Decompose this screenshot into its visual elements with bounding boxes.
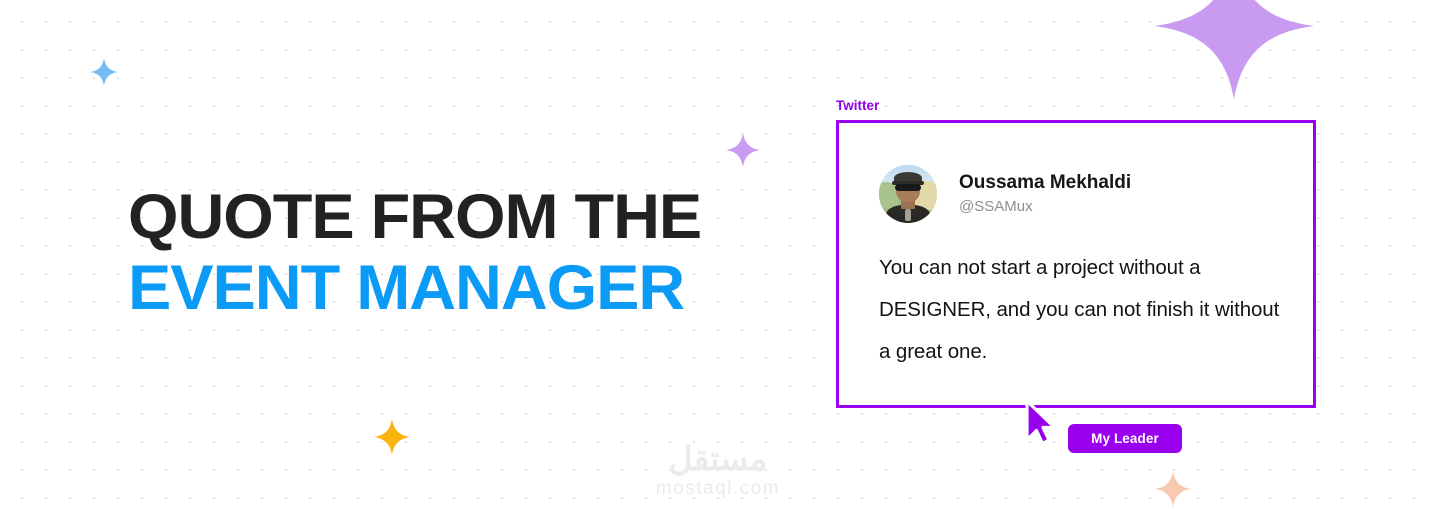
tweet-body-text: You can not start a project without a DE… (879, 247, 1284, 373)
sparkle-peach-icon (1155, 471, 1191, 507)
author-handle: @SSAMux (959, 197, 1131, 217)
arrow-cursor-icon (1022, 398, 1058, 451)
headline-line-1: QUOTE FROM THE (128, 182, 767, 253)
watermark-arabic-text: مستقل (669, 442, 768, 476)
author-display-name: Oussama Mekhaldi (959, 172, 1131, 194)
sparkle-blue-icon (90, 58, 118, 86)
sparkle-orange-icon (374, 419, 410, 455)
avatar (879, 165, 937, 223)
watermark-latin-text: mostaql.com (656, 478, 780, 499)
page-title: QUOTE FROM THE EVENT MANAGER (128, 182, 748, 324)
star-large-purple-icon (1154, 0, 1314, 104)
sparkle-purple-icon (726, 133, 760, 167)
tweet-author-block: Oussama Mekhaldi @SSAMux (879, 165, 1131, 223)
watermark: مستقل mostaql.com (0, 442, 1436, 499)
platform-label: Twitter (836, 98, 879, 113)
author-text-block: Oussama Mekhaldi @SSAMux (959, 172, 1131, 217)
headline-line-2: EVENT MANAGER (128, 253, 767, 324)
tweet-card: Oussama Mekhaldi @SSAMux You can not sta… (836, 120, 1316, 408)
my-leader-badge[interactable]: My Leader (1068, 424, 1182, 453)
